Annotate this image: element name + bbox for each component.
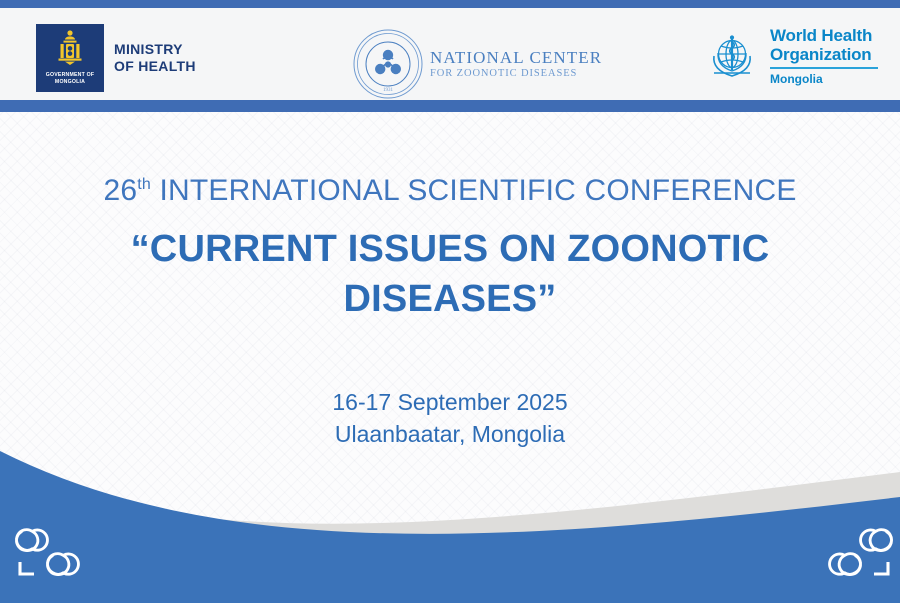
ncz-label-line1: NATIONAL CENTER — [430, 48, 602, 67]
header-divider-bar — [0, 100, 900, 112]
event-location: Ulaanbaatar, Mongolia — [0, 418, 900, 450]
emblem-caption-line2: MONGOLIA — [55, 79, 85, 85]
conference-title-slide: GOVERNMENT OF MONGOLIA MINISTRY OF HEALT… — [0, 0, 900, 603]
conference-heading: 26th INTERNATIONAL SCIENTIFIC CONFERENCE — [0, 174, 900, 208]
slide-body: 26th INTERNATIONAL SCIENTIFIC CONFERENCE… — [0, 112, 900, 472]
ministry-label-line2: OF HEALTH — [114, 58, 196, 75]
biohazard-seal-icon: 1931 — [352, 28, 424, 100]
emblem-caption-line1: GOVERNMENT OF — [46, 72, 94, 78]
event-date: 16-17 September 2025 — [0, 386, 900, 418]
logo-national-center-zoonotic-diseases: 1931 NATIONAL CENTER FOR ZOONOTIC DISEAS… — [352, 28, 602, 100]
who-country-label: Mongolia — [770, 72, 878, 86]
header-logo-band: GOVERNMENT OF MONGOLIA MINISTRY OF HEALT… — [0, 8, 900, 100]
conference-ordinal: th — [137, 176, 151, 193]
logo-ministry-of-health: GOVERNMENT OF MONGOLIA MINISTRY OF HEALT… — [36, 24, 196, 92]
top-accent-bar — [0, 0, 900, 8]
conference-number: 26 — [103, 174, 137, 207]
ministry-of-health-label: MINISTRY OF HEALTH — [114, 41, 196, 75]
logo-world-health-organization: World Health Organization Mongolia — [702, 26, 878, 86]
mongolia-soyombo-emblem-icon: GOVERNMENT OF MONGOLIA — [36, 24, 104, 92]
page-title: “CURRENT ISSUES ON ZOONOTIC DISEASES” — [0, 224, 900, 324]
mongolian-ulzii-knot-icon — [818, 524, 894, 586]
who-label-line2: Organization — [770, 45, 878, 64]
ministry-label-line1: MINISTRY — [114, 41, 196, 58]
seal-year: 1931 — [383, 88, 394, 93]
conference-heading-text: INTERNATIONAL SCIENTIFIC CONFERENCE — [151, 174, 797, 207]
who-separator-rule — [770, 67, 878, 69]
who-emblem-icon — [702, 26, 762, 86]
emblem-caption: GOVERNMENT OF MONGOLIA — [36, 72, 104, 86]
event-details: 16-17 September 2025 Ulaanbaatar, Mongol… — [0, 386, 900, 450]
mongolian-ulzii-knot-icon — [14, 524, 90, 586]
ncz-label-line2: FOR ZOONOTIC DISEASES — [430, 67, 602, 80]
who-label-line1: World Health — [770, 26, 878, 45]
